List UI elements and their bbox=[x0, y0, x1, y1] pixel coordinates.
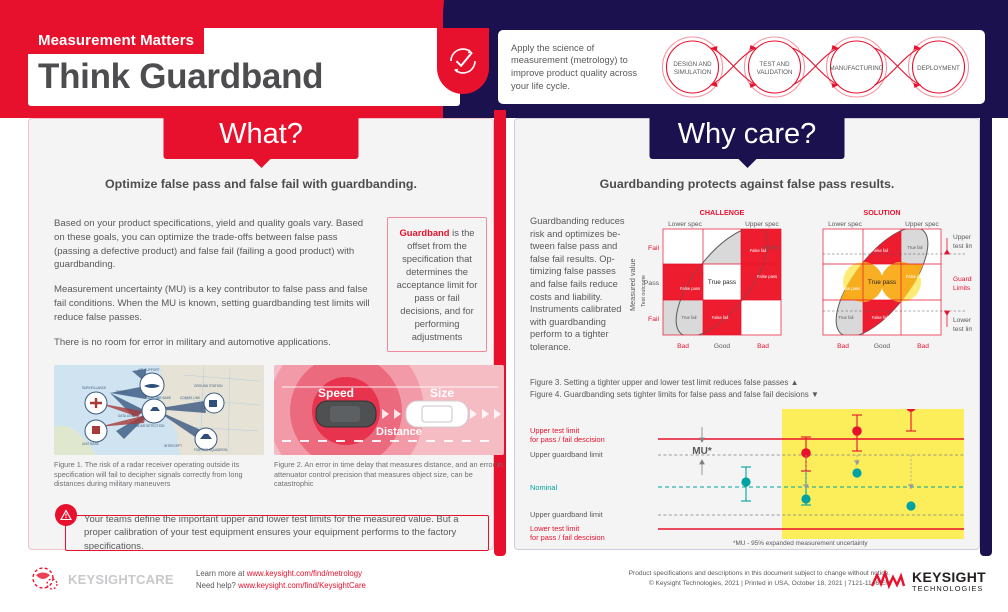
upper-guardband-limit-label: Upper guardband limit bbox=[530, 450, 603, 459]
svg-text:SURVEILLANCE: SURVEILLANCE bbox=[82, 386, 106, 390]
svg-text:MARITIME BASE: MARITIME BASE bbox=[146, 396, 171, 400]
keysight-logo: KEYSIGHT TECHNOLOGIES bbox=[870, 570, 986, 592]
after-point-1 bbox=[852, 426, 862, 436]
adjustments-scatter-svg: Adjustments performed Warranted specs re… bbox=[530, 409, 966, 549]
solution-cell-false-pass-right: False pass bbox=[906, 274, 926, 279]
challenge-xtick-0: Bad bbox=[677, 343, 689, 350]
upper-test-limit-label-l1: Upper test limit bbox=[530, 426, 579, 435]
legal-text: Product specifications and descriptions … bbox=[629, 569, 890, 589]
challenge-upper-spec-label: Upper spec bbox=[745, 221, 779, 228]
keysight-care-logo: KEYSIGHTCARE bbox=[30, 566, 174, 592]
what-paragraph-0: Based on your product specifications, yi… bbox=[54, 217, 372, 272]
figure-1-caption: Figure 1. The risk of a radar receiver o… bbox=[54, 460, 264, 489]
page-title: Think Guardband bbox=[38, 57, 323, 97]
keysight-wordmark: KEYSIGHT TECHNOLOGIES bbox=[912, 570, 986, 592]
footer-links: Learn more at www.keysight.com/find/metr… bbox=[196, 568, 366, 591]
automotive-radar-cars-illustration: Speed Distance Size bbox=[274, 365, 504, 455]
svg-text:SIGNAL: SIGNAL bbox=[116, 390, 128, 394]
lifecycle-stage-0-line2: SIMULATION bbox=[674, 69, 711, 76]
before-point-2 bbox=[852, 468, 861, 477]
radar-military-map-illustration: SURVEILLANCE AIR SUPPORT SIGNAL MARITIME… bbox=[54, 365, 264, 455]
what-panel: What? Optimize false pass and false fail… bbox=[28, 118, 494, 550]
nominal-label: Nominal bbox=[530, 483, 557, 492]
svg-text:AIR SUPPORT: AIR SUPPORT bbox=[138, 368, 160, 372]
solution-cell-false-pass-left: False pass bbox=[840, 286, 860, 291]
what-paragraph-1: Measurement uncertainty (MU) is a key co… bbox=[54, 283, 372, 324]
guardband-term: Guardband bbox=[399, 227, 449, 238]
legal-line-2: © Keysight Technologies, 2021 | Printed … bbox=[629, 579, 890, 589]
matrix-ylabel: Measured value bbox=[628, 258, 637, 311]
solution-title: SOLUTION bbox=[863, 208, 900, 217]
figure-4-caption: Figure 4. Guardbanding sets tighter limi… bbox=[530, 389, 819, 401]
challenge-cell-false-pass-left: False pass bbox=[680, 286, 700, 291]
figure-2: Speed Distance Size Figure 2. An error i… bbox=[274, 365, 504, 489]
keysight-brand-line-2: TECHNOLOGIES bbox=[912, 585, 986, 593]
solution-right-label-guardband-part2: Limits bbox=[953, 285, 971, 292]
lifecycle-card: Apply the science of measurement (metrol… bbox=[498, 30, 985, 104]
svg-text:UNIT BASE: UNIT BASE bbox=[82, 442, 99, 446]
keysight-waveform-icon bbox=[870, 570, 906, 592]
keysight-brand-line-1: KEYSIGHT bbox=[912, 570, 986, 585]
top-banner: Measurement Matters Think Guardband Appl… bbox=[0, 0, 1008, 118]
why-care-subtitle: Guardbanding protects against false pass… bbox=[515, 177, 979, 191]
solution-upper-spec-label: Upper spec bbox=[905, 221, 939, 228]
left-panel-red-edge bbox=[494, 110, 506, 556]
lifecycle-stage-2-line1: MANUFACTURING bbox=[830, 65, 884, 72]
solution-xtick-1: Good bbox=[874, 343, 890, 350]
lifecycle-stage-0-line1: DESIGN AND bbox=[673, 61, 712, 68]
upper-test-limit-label-l2: for pass / fail descision bbox=[530, 435, 605, 444]
svg-text:RADAR DETECTION: RADAR DETECTION bbox=[134, 424, 165, 428]
keysight-care-mark-icon bbox=[30, 566, 62, 592]
solution-cell-false-fail-bottom: False fail bbox=[872, 315, 889, 320]
lower-test-limit-label-l2: for pass / fail descision bbox=[530, 533, 605, 542]
lifecycle-intro-text: Apply the science of measurement (metrol… bbox=[498, 42, 648, 92]
guardband-definition: is the offset from the specification tha… bbox=[397, 227, 478, 342]
what-body-text: Based on your product specifications, yi… bbox=[54, 217, 372, 360]
figure-2-label-distance: Distance bbox=[376, 426, 422, 438]
challenge-lower-spec-label: Lower spec bbox=[668, 221, 702, 228]
solution-right-label-guardband-part1: Guardband bbox=[953, 276, 972, 283]
solution-xtick-2: Bad bbox=[917, 343, 929, 350]
page-footer: KEYSIGHTCARE Learn more at www.keysight.… bbox=[0, 560, 1008, 612]
svg-text:INTERCEPT: INTERCEPT bbox=[164, 444, 182, 448]
check-cycle-icon bbox=[446, 44, 480, 78]
title-card: Measurement Matters Think Guardband bbox=[28, 28, 460, 106]
footer-link-prefix-1: Need help? bbox=[196, 581, 238, 590]
before-point-3 bbox=[906, 501, 915, 510]
mu-annotation: MU* bbox=[692, 446, 712, 457]
solution-cell-true-fail-top: True fail bbox=[908, 245, 923, 250]
challenge-cell-true-fail-bottom: True fail bbox=[682, 315, 697, 320]
keysight-care-wordmark: KEYSIGHTCARE bbox=[68, 572, 174, 587]
challenge-xtick-1: Good bbox=[714, 343, 730, 350]
challenge-ytick-2: Fail bbox=[648, 316, 659, 323]
why-care-panel: Why care? Guardbanding protects against … bbox=[514, 118, 980, 550]
kicker-label: Measurement Matters bbox=[28, 28, 204, 54]
lifecycle-diagram: DESIGN AND SIMULATION TEST AND VALIDATIO… bbox=[648, 32, 985, 102]
metrology-link[interactable]: www.keysight.com/find/metrology bbox=[247, 569, 362, 578]
solution-cell-false-fail-top: False fail bbox=[872, 248, 889, 253]
right-panel-navy-edge bbox=[980, 110, 992, 556]
solution-right-label-upper-part1: Upper bbox=[953, 234, 972, 241]
solution-cell-true-pass: True pass bbox=[868, 279, 896, 286]
figure-2-caption: Figure 2. An error in time delay that me… bbox=[274, 460, 504, 489]
mu-footnote: *MU - 95% expanded measurement uncertain… bbox=[733, 540, 868, 547]
solution-lower-spec-label: Lower spec bbox=[828, 221, 862, 228]
solution-right-label-upper-part2: test limit bbox=[953, 243, 972, 250]
guardbanding-side-text: Guardbanding reduces risk and optimizes … bbox=[530, 215, 628, 354]
svg-text:DATA LINK: DATA LINK bbox=[118, 414, 135, 418]
challenge-title: CHALLENGE bbox=[700, 208, 745, 217]
lifecycle-stage-1-line1: TEST AND bbox=[759, 61, 790, 68]
lower-guardband-limit-label: Upper guardband limit bbox=[530, 510, 603, 519]
figure-1: SURVEILLANCE AIR SUPPORT SIGNAL MARITIME… bbox=[54, 365, 264, 489]
challenge-ytick-0: Fail bbox=[648, 245, 659, 252]
challenge-cell-true-pass: True pass bbox=[708, 279, 736, 286]
check-cycle-badge bbox=[437, 28, 489, 94]
what-paragraph-2: There is no room for error in military a… bbox=[54, 336, 372, 350]
guardband-matrix-svg: Measured value Test outcome CHALLENGE Lo… bbox=[627, 207, 972, 367]
solution-cell-true-fail-bottom: True fail bbox=[839, 315, 854, 320]
footer-link-prefix-0: Learn more at bbox=[196, 569, 247, 578]
lifecycle-stage-1-line2: VALIDATION bbox=[757, 69, 793, 76]
solution-right-label-lower-part1: Lower bbox=[953, 317, 972, 324]
lower-test-limit-label-l1: Lower test limit bbox=[530, 524, 579, 533]
challenge-cell-false-pass-right: False pass bbox=[757, 274, 777, 279]
figure-34-captions: Figure 3. Setting a tighter upper and lo… bbox=[530, 377, 819, 400]
what-subtitle: Optimize false pass and false fail with … bbox=[29, 177, 493, 191]
lifecycle-stage-3-line1: DEPLOYMENT bbox=[917, 65, 960, 72]
before-point-1 bbox=[801, 494, 810, 503]
svg-text:FIGHTER SQUADRON: FIGHTER SQUADRON bbox=[194, 448, 228, 452]
before-point-0 bbox=[741, 477, 750, 486]
challenge-cell-true-fail-top: True fail bbox=[763, 245, 778, 250]
footer-link-row-0[interactable]: Learn more at www.keysight.com/find/metr… bbox=[196, 568, 366, 580]
challenge-cell-false-fail-bottom: False fail bbox=[712, 315, 729, 320]
challenge-xtick-2: Bad bbox=[757, 343, 769, 350]
calibration-alert-box: Your teams define the important upper an… bbox=[65, 515, 489, 551]
figure-2-label-speed: Speed bbox=[318, 386, 354, 400]
solution-xtick-0: Bad bbox=[837, 343, 849, 350]
figure-2-label-size: Size bbox=[430, 386, 454, 400]
challenge-solution-charts: Measured value Test outcome CHALLENGE Lo… bbox=[627, 207, 972, 367]
guardband-definition-box: Guardband is the offset from the specifi… bbox=[387, 217, 487, 352]
what-tab: What? bbox=[164, 109, 359, 159]
legal-line-1: Product specifications and descriptions … bbox=[629, 569, 890, 579]
footer-link-row-1[interactable]: Need help? www.keysight.com/find/Keysigh… bbox=[196, 580, 366, 592]
adjustments-chart: Adjustments performed Warranted specs re… bbox=[530, 409, 966, 549]
warning-triangle-icon bbox=[55, 504, 77, 526]
challenge-ytick-1: Pass bbox=[644, 280, 660, 287]
calibration-alert-text: Your teams define the important upper an… bbox=[84, 513, 478, 554]
why-care-tab: Why care? bbox=[650, 109, 845, 159]
figure-3-caption: Figure 3. Setting a tighter upper and lo… bbox=[530, 377, 819, 389]
svg-text:GROUND STATION: GROUND STATION bbox=[194, 384, 223, 388]
keysightcare-link[interactable]: www.keysight.com/find/KeysightCare bbox=[238, 581, 366, 590]
svg-text:COMMS LINK: COMMS LINK bbox=[180, 396, 201, 400]
solution-right-label-lower-part2: test limit bbox=[953, 326, 972, 333]
